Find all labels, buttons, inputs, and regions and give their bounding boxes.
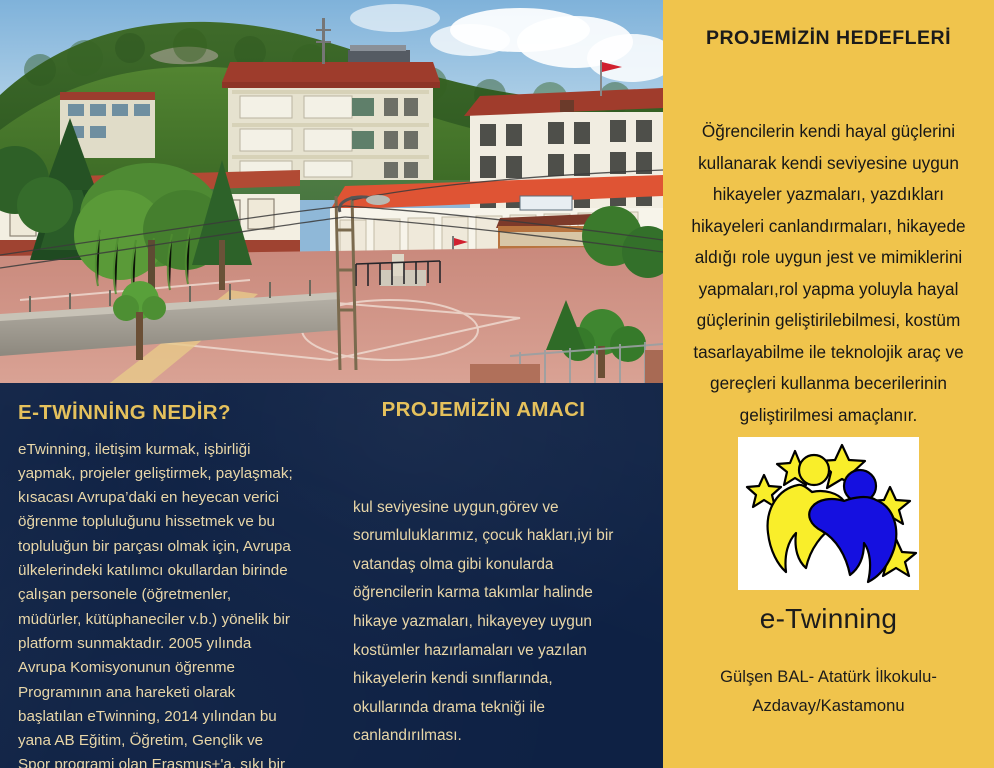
school-photo-illustration	[0, 0, 663, 383]
column-etwinning-nedir: E-TWİNNİNG NEDİR? eTwinning, iletişim ku…	[0, 383, 331, 768]
left-column-body: eTwinning, iletişim kurmak, işbirliği ya…	[18, 438, 295, 768]
author-credit: Gülşen BAL- Atatürk İlkokulu- Azdavay/Ka…	[663, 662, 994, 720]
etwinning-logo-svg	[738, 437, 919, 590]
brochure-page: E-TWİNNİNG NEDİR? eTwinning, iletişim ku…	[0, 0, 994, 768]
column-projemizin-hedefleri: PROJEMİZİN HEDEFLERİ Öğrencilerin kendi …	[663, 0, 994, 768]
navy-text-area: E-TWİNNİNG NEDİR? eTwinning, iletişim ku…	[0, 383, 663, 768]
left-column-heading: E-TWİNNİNG NEDİR?	[18, 401, 295, 425]
credit-line-2: Azdavay/Kastamonu	[681, 691, 976, 720]
right-column-body: Öğrencilerin kendi hayal güçlerini kulla…	[663, 50, 994, 431]
middle-column-heading: PROJEMİZİN AMACI	[353, 398, 618, 422]
right-column-heading: PROJEMİZİN HEDEFLERİ	[663, 0, 994, 50]
etwinning-logo-title: e-Twinning	[663, 590, 994, 635]
middle-column-body: kul seviyesine uygun,görev ve sorumluluk…	[353, 494, 618, 751]
school-photo	[0, 0, 663, 383]
etwinning-logo-block: e-Twinning	[663, 437, 994, 635]
etwinning-logo-icon	[738, 437, 919, 590]
column-projemizin-amaci: PROJEMİZİN AMACI kul seviyesine uygun,gö…	[331, 383, 663, 768]
credit-line-1: Gülşen BAL- Atatürk İlkokulu-	[681, 662, 976, 691]
